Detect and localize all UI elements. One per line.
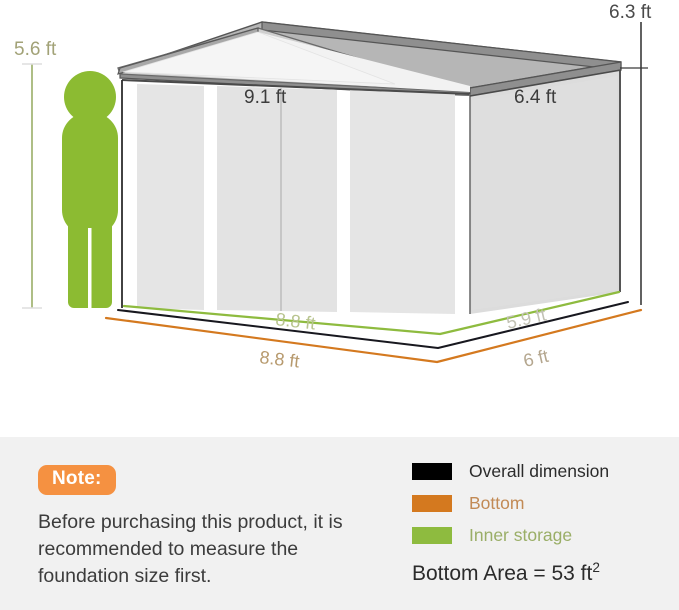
- note-block: Note: Before purchasing this product, it…: [38, 465, 368, 590]
- legend-label-bottom: Bottom: [469, 493, 524, 514]
- legend-swatch-overall-dimension: [412, 463, 452, 480]
- note-badge: Note:: [38, 465, 116, 495]
- legend-item-overall-dimension: Overall dimension: [412, 455, 609, 487]
- legend-item-bottom: Bottom: [412, 487, 609, 519]
- overall-height-dimension: [620, 22, 648, 305]
- shed-front-wall: [122, 80, 470, 314]
- bottom-area-label: Bottom Area = 53 ft: [412, 562, 592, 585]
- shed-illustration: 5.6 ft 6.3 ft 9.1 ft 6.4 ft 8.8 ft 8.8 f…: [0, 0, 679, 437]
- note-text: Before purchasing this product, it is re…: [38, 509, 368, 590]
- info-panel: Note: Before purchasing this product, it…: [0, 437, 679, 610]
- shed-dimension-infographic: 5.6 ft 6.3 ft 9.1 ft 6.4 ft 8.8 ft 8.8 f…: [0, 0, 679, 610]
- legend: Overall dimension Bottom Inner storage: [412, 455, 609, 551]
- person-height-dimension: [22, 64, 42, 308]
- bottom-area-summary: Bottom Area = 53 ft2: [412, 560, 600, 586]
- dimension-label-outer-side-bottom: 6 ft: [521, 346, 550, 371]
- legend-swatch-bottom: [412, 495, 452, 512]
- legend-item-inner-storage: Inner storage: [412, 519, 609, 551]
- legend-label-overall-dimension: Overall dimension: [469, 461, 609, 482]
- dimension-label-person-height: 5.6 ft: [14, 39, 57, 60]
- dimension-label-outer-front-bottom: 8.8 ft: [259, 347, 301, 371]
- dimension-label-overall-height: 6.3 ft: [609, 2, 652, 23]
- person-silhouette: [62, 71, 118, 308]
- bottom-area-superscript: 2: [592, 560, 600, 575]
- dimension-label-side-width-top: 6.4 ft: [514, 87, 557, 108]
- dimension-label-inner-side-bottom: 5.9 ft: [504, 304, 548, 332]
- legend-swatch-inner-storage: [412, 527, 452, 544]
- legend-label-inner-storage: Inner storage: [469, 525, 572, 546]
- dimension-label-front-width-top: 9.1 ft: [244, 87, 287, 108]
